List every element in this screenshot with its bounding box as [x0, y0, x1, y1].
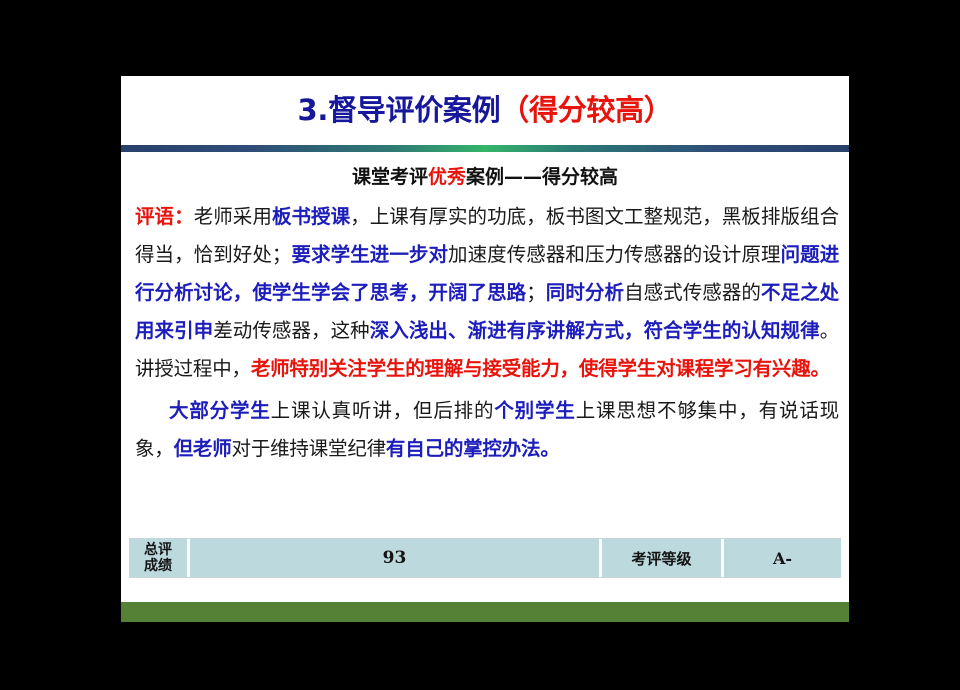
subtitle-lead: 课堂考评 — [352, 166, 428, 188]
comment-block: 评语：老师采用板书授课，上课有厚实的功底，板书图文工整规范，黑板排版组合得当，恰… — [135, 198, 839, 468]
slide-body: 课堂考评优秀案例——得分较高 评语：老师采用板书授课，上课有厚实的功底，板书图文… — [121, 152, 849, 622]
text-run-black-8: 自感式传感器的 — [624, 281, 761, 304]
text-run-blue-1: 板书授课 — [272, 205, 350, 228]
page-title: 3.督导评价案例（得分较高） — [298, 96, 673, 125]
text-run-black-1: 上课认真听讲，但后排的 — [271, 399, 495, 422]
comment-paragraph-1: 评语：老师采用板书授课，上课有厚实的功底，板书图文工整规范，黑板排版组合得当，恰… — [135, 198, 839, 388]
subtitle-highlight: 优秀 — [428, 166, 466, 188]
text-run-black-6: ； — [526, 281, 545, 304]
text-run-black-0: 老师采用 — [194, 205, 272, 228]
score-table-grade-value: A- — [721, 539, 841, 577]
score-table-total-label: 总评 成绩 — [129, 539, 187, 577]
total-label-line1: 总评 — [144, 542, 172, 558]
text-run-blue-11: 深入浅出、渐进有序讲解方式，符合学生的认知规律 — [370, 319, 820, 342]
score-table-total-value: 93 — [187, 539, 599, 577]
text-run-red-13: 老师特别关注学生的理解与接受能力，使得学生对课程学习有兴趣。 — [251, 357, 830, 380]
score-table-grade-label: 考评等级 — [599, 539, 721, 577]
comment-label: 评语： — [135, 205, 194, 228]
text-run-blue-7: 同时分析 — [546, 281, 625, 304]
page-title-parenthetical: （得分较高） — [500, 93, 672, 127]
comment-paragraph-2-runs: 大部分学生上课认真听讲，但后排的个别学生上课思想不够集中，有说话现象，但老师对于… — [135, 399, 839, 460]
text-run-blue-2: 个别学生 — [494, 399, 575, 422]
screen: 3.督导评价案例（得分较高） 课堂考评优秀案例——得分较高 评语：老师采用板书授… — [0, 0, 960, 690]
slide-title-area: 3.督导评价案例（得分较高） — [121, 76, 849, 145]
comment-paragraph-2: 大部分学生上课认真听讲，但后排的个别学生上课思想不够集中，有说话现象，但老师对于… — [135, 392, 839, 468]
subtitle: 课堂考评优秀案例——得分较高 — [121, 167, 849, 188]
footer-bar — [121, 602, 849, 622]
subtitle-tail: 案例——得分较高 — [466, 166, 618, 188]
text-run-blue-6: 有自己的掌控办法。 — [386, 437, 560, 460]
page-title-main: 3.督导评价案例 — [298, 93, 501, 127]
text-run-black-4: 加速度传感器和压力传感器的设计原理 — [448, 243, 781, 266]
title-divider-bar — [121, 145, 849, 152]
text-run-black-5: 对于维持课堂纪律 — [232, 437, 386, 460]
text-run-blue-3: 要求学生进一步对 — [291, 243, 448, 266]
score-table: 总评 成绩 93 考评等级 A- — [129, 538, 841, 578]
text-run-black-10: 差动传感器，这种 — [213, 319, 370, 342]
text-run-blue-0: 大部分学生 — [169, 399, 271, 422]
total-label-line2: 成绩 — [144, 558, 172, 574]
slide: 3.督导评价案例（得分较高） 课堂考评优秀案例——得分较高 评语：老师采用板书授… — [121, 76, 849, 622]
text-run-blue-4: 但老师 — [174, 437, 232, 460]
comment-paragraph-1-runs: 老师采用板书授课，上课有厚实的功底，板书图文工整规范，黑板排版组合得当，恰到好处… — [135, 205, 839, 380]
